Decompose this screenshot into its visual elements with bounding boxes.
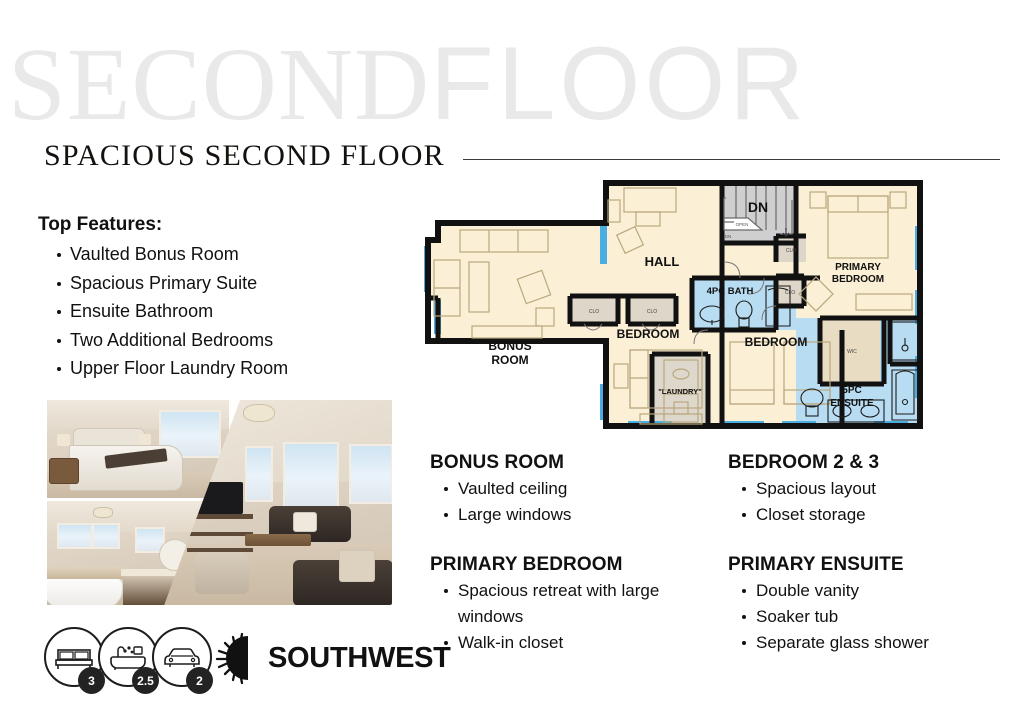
list-item: Spacious layout: [728, 476, 1018, 502]
top-features-block: Top Features: Vaulted Bonus Room Spaciou…: [38, 214, 418, 383]
label-wic: WIC: [847, 349, 857, 355]
list-item: Separate glass shower: [728, 630, 1018, 656]
section-list-primary-ensuite: Double vanity Soaker tub Separate glass …: [728, 578, 1018, 656]
label-bedroom-3: BEDROOM: [617, 327, 680, 341]
top-features-list: Vaulted Bonus Room Spacious Primary Suit…: [38, 240, 418, 383]
list-item: Spacious retreat with large windows: [430, 578, 720, 630]
section-heading-primary-bedroom: PRIMARY BEDROOM: [430, 554, 720, 576]
description-column-right: BEDROOM 2 & 3 Spacious layout Closet sto…: [728, 452, 1018, 682]
label-bath-4pc: 4PC BATH: [707, 286, 754, 297]
watermark-word-second: SECOND: [8, 27, 430, 142]
title-divider: [463, 159, 1000, 160]
badge-garage-count: 2: [186, 667, 213, 694]
description-column-left: BONUS ROOM Vaulted ceiling Large windows…: [430, 452, 720, 682]
label-closet: CLO: [647, 309, 657, 315]
label-primary-bedroom-line1: PRIMARY: [835, 262, 881, 273]
section-heading-bonus-room: BONUS ROOM: [430, 452, 720, 474]
label-closet: CLO: [589, 309, 599, 315]
list-item: Soaker tub: [728, 604, 1018, 630]
section-heading-primary-ensuite: PRIMARY ENSUITE: [728, 554, 1018, 576]
list-item: Vaulted Bonus Room: [38, 240, 418, 269]
section-heading-bedroom-2-3: BEDROOM 2 & 3: [728, 452, 1018, 474]
brand-logo: SOUTHWEST: [214, 630, 451, 686]
section-list-bedroom-2-3: Spacious layout Closet storage: [728, 476, 1018, 528]
label-stairs-down: DN: [748, 199, 768, 215]
page-title-row: SPACIOUS SECOND FLOOR: [44, 139, 1000, 173]
label-hall: HALL: [645, 254, 680, 269]
page-watermark: SECONDFLOOR: [8, 34, 1024, 134]
list-item: Two Additional Bedrooms: [38, 326, 418, 355]
label-stairs-down-small: DN: [725, 234, 732, 239]
label-closet: CLO: [785, 290, 795, 296]
half-sun-icon: [214, 630, 266, 686]
label-bedroom-2: BEDROOM: [745, 335, 808, 349]
photo-collage: [47, 400, 392, 605]
floor-plan: HALL DN OPEN DN PRIMARY BEDROOM 4PC BATH…: [424, 178, 924, 448]
property-badges: 3 2.5: [44, 627, 214, 699]
label-laundry: "LAUNDRY": [658, 387, 702, 396]
label-closet: CLO: [786, 248, 796, 254]
list-item: Closet storage: [728, 502, 1018, 528]
primary-bedroom-photo: [47, 400, 229, 498]
list-item: Spacious Primary Suite: [38, 269, 418, 298]
floor-plan-svg: HALL DN OPEN DN PRIMARY BEDROOM 4PC BATH…: [424, 178, 924, 448]
label-primary-bedroom-line2: BEDROOM: [832, 274, 884, 285]
watermark-word-floor: FLOOR: [430, 26, 808, 142]
label-ensuite-line1: 5PC: [842, 385, 861, 396]
top-features-heading: Top Features:: [38, 214, 418, 236]
section-list-primary-bedroom: Spacious retreat with large windows Walk…: [430, 578, 720, 656]
marketing-sheet: SECONDFLOOR SPACIOUS SECOND FLOOR Top Fe…: [0, 0, 1024, 724]
brand-logo-text: SOUTHWEST: [268, 642, 451, 675]
list-item: Upper Floor Laundry Room: [38, 354, 418, 383]
label-bonus-room-line1: BONUS: [488, 339, 531, 353]
list-item: Ensuite Bathroom: [38, 297, 418, 326]
section-list-bonus-room: Vaulted ceiling Large windows: [430, 476, 720, 528]
list-item: Vaulted ceiling: [430, 476, 720, 502]
page-title: SPACIOUS SECOND FLOOR: [44, 139, 445, 173]
label-ensuite-line2: ENSUITE: [830, 398, 874, 409]
label-bonus-room-line2: ROOM: [491, 353, 528, 367]
label-stairs-open: OPEN: [736, 222, 749, 227]
list-item: Double vanity: [728, 578, 1018, 604]
list-item: Walk-in closet: [430, 630, 720, 656]
list-item: Large windows: [430, 502, 720, 528]
